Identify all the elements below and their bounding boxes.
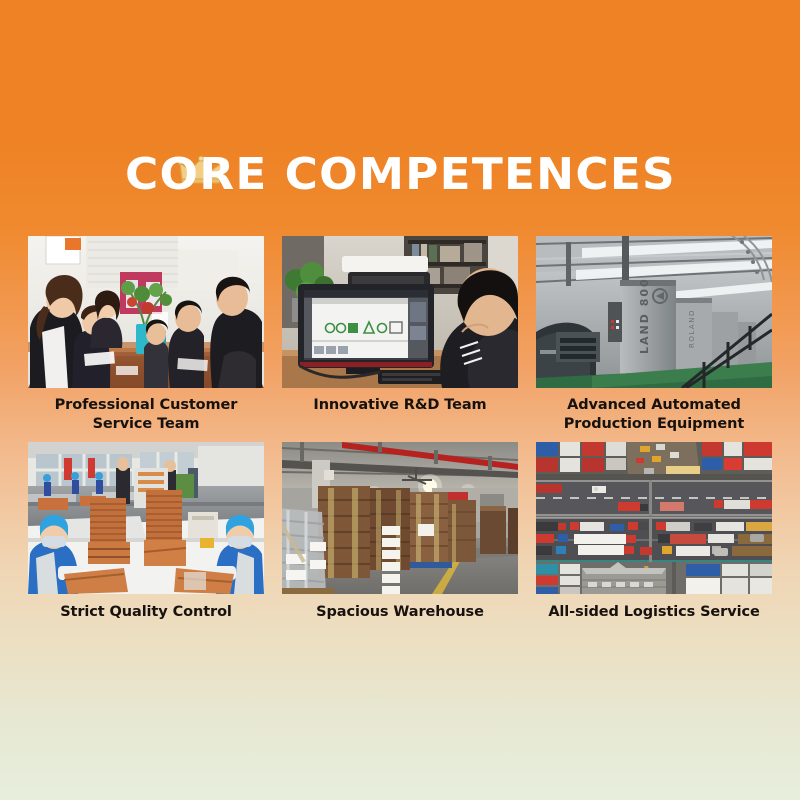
card-strict-quality-control[interactable]: Strict Quality Control	[28, 442, 264, 622]
caption-line-1: Professional Customer	[55, 397, 238, 413]
card-caption: Professional Customer Service Team	[28, 396, 264, 434]
core-competences-banner: CORE COMPETENCES	[0, 0, 800, 800]
card-caption: Innovative R&D Team	[282, 396, 518, 415]
svg-text:ROLAND: ROLAND	[688, 309, 696, 348]
card-innovative-rd-team[interactable]: Innovative R&D Team	[282, 236, 518, 434]
caption-line-2: Service Team	[93, 416, 200, 432]
caption-line-1: Advanced Automated	[567, 397, 741, 413]
logistics-aerial-photo	[536, 442, 772, 594]
caption-line-1: All-sided Logistics Service	[548, 604, 759, 620]
caption-line-1: Innovative R&D Team	[313, 397, 486, 413]
meeting-room-photo	[28, 236, 264, 388]
rd-designer-photo	[282, 236, 518, 388]
competence-grid: Professional Customer Service Team	[28, 236, 772, 622]
card-advanced-automated-production-equipment[interactable]: LAND 800 ROLAND	[536, 236, 772, 434]
caption-line-2: Production Equipment	[564, 416, 744, 432]
card-caption: Spacious Warehouse	[282, 603, 518, 622]
quality-control-photo	[28, 442, 264, 594]
svg-text:LAND 800: LAND 800	[638, 277, 651, 354]
title-block: CORE COMPETENCES	[0, 152, 800, 198]
printing-press-photo: LAND 800 ROLAND	[536, 236, 772, 388]
caption-line-1: Spacious Warehouse	[316, 604, 484, 620]
card-caption: Advanced Automated Production Equipment	[536, 396, 772, 434]
warehouse-photo	[282, 442, 518, 594]
card-all-sided-logistics-service[interactable]: All-sided Logistics Service	[536, 442, 772, 622]
card-caption: All-sided Logistics Service	[536, 603, 772, 622]
card-professional-customer-service-team[interactable]: Professional Customer Service Team	[28, 236, 264, 434]
caption-line-1: Strict Quality Control	[60, 604, 232, 620]
card-caption: Strict Quality Control	[28, 603, 264, 622]
card-spacious-warehouse[interactable]: Spacious Warehouse	[282, 442, 518, 622]
page-title: CORE COMPETENCES	[125, 152, 676, 198]
